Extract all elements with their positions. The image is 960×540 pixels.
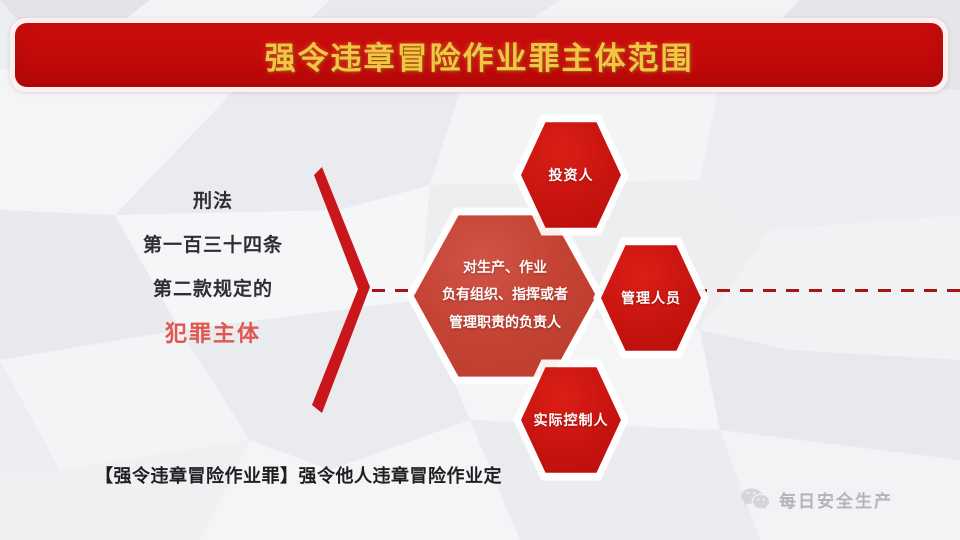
watermark-text: 每日安全生产: [779, 487, 893, 512]
satellite-hexagon-investor-label: 投资人: [549, 165, 594, 185]
title-banner: 强令违章冒险作业罪主体范围: [15, 23, 943, 87]
bottom-caption: 【强令违章冒险作业罪】强令他人违章冒险作业定: [95, 462, 502, 488]
watermark: 每日安全生产: [740, 486, 893, 512]
left-text-emphasis-crime-subject: 犯罪主体: [108, 324, 318, 346]
left-text-line-1: 刑法: [108, 192, 318, 211]
left-text-line-2: 第一百三十四条: [108, 236, 318, 255]
page-title: 强令违章冒险作业罪主体范围: [265, 33, 694, 78]
title-banner-frame: 强令违章冒险作业罪主体范围: [10, 18, 948, 92]
center-hexagon-line-2: 负有组织、指挥或者: [442, 282, 568, 309]
wechat-icon: [740, 486, 770, 512]
center-hexagon-text-group: 对生产、作业 负有组织、指挥或者 管理职责的负责人: [442, 255, 568, 337]
center-hexagon-line-1: 对生产、作业: [442, 255, 568, 282]
left-text-block: 刑法 第一百三十四条 第二款规定的 犯罪主体: [108, 192, 318, 346]
left-text-line-3: 第二款规定的: [108, 280, 318, 299]
satellite-hexagon-actual-controller-label: 实际控制人: [534, 410, 609, 430]
center-hexagon-line-3: 管理职责的负责人: [442, 310, 568, 337]
satellite-hexagon-management-staff-label: 管理人员: [621, 288, 681, 308]
slide-canvas: 强令违章冒险作业罪主体范围 刑法 第一百三十四条 第二款规定的 犯罪主体 对生产…: [0, 0, 960, 540]
